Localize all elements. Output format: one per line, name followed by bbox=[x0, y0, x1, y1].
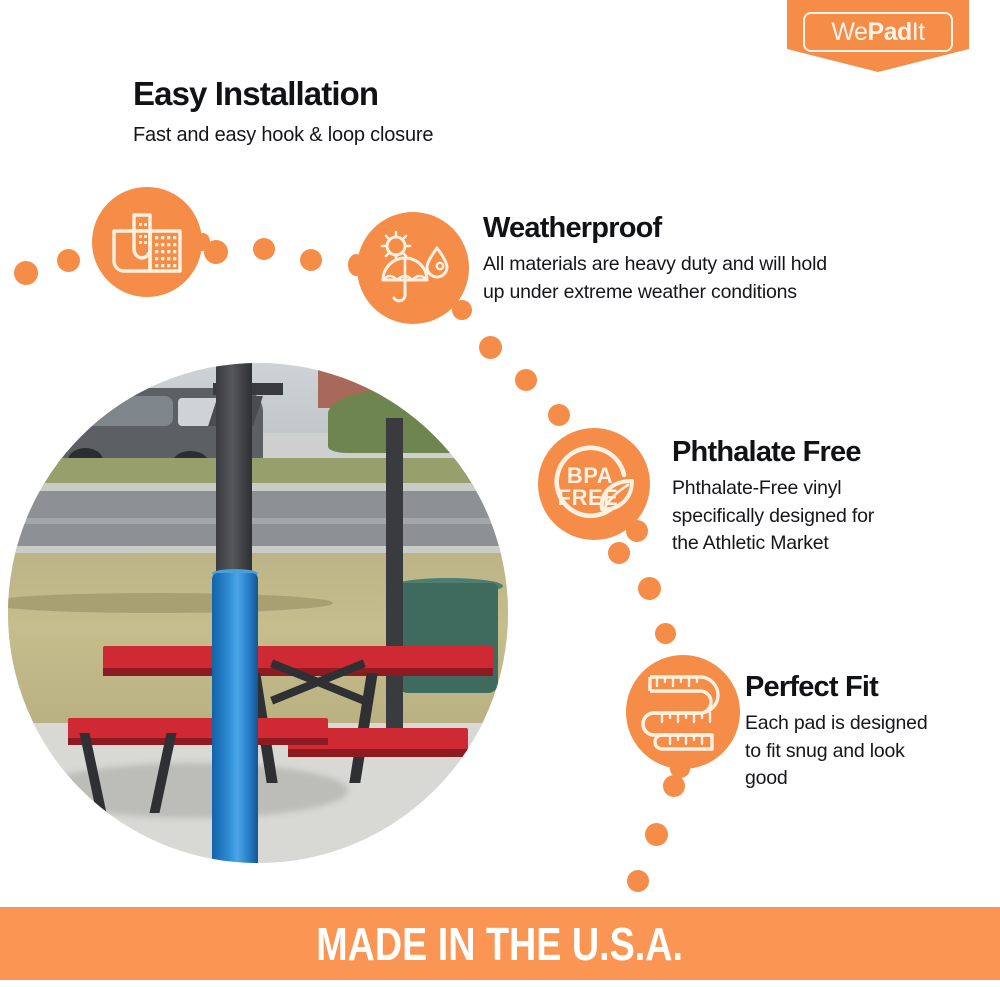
feature-desc-line: specifically designed for bbox=[672, 505, 874, 527]
trail-dot bbox=[300, 249, 322, 271]
photo-bench-near bbox=[68, 718, 328, 740]
feature-desc-phthalate-free: Phthalate-Free vinylspecifically designe… bbox=[672, 475, 957, 558]
feature-desc-line: up under extreme weather conditions bbox=[483, 281, 797, 303]
feature-desc-line: Phthalate-Free vinyl bbox=[672, 477, 841, 499]
phthalate-free-text-block: Phthalate Free Phthalate-Free vinylspeci… bbox=[672, 437, 957, 558]
logo-text-we: We bbox=[831, 18, 867, 46]
product-photo bbox=[8, 363, 508, 863]
feature-title-phthalate-free: Phthalate Free bbox=[672, 437, 957, 469]
trail-dot bbox=[548, 404, 570, 426]
trail-dot bbox=[608, 542, 630, 564]
trail-dot bbox=[479, 336, 502, 359]
trail-dot bbox=[627, 870, 649, 892]
measuring-tape-icon-glyph bbox=[640, 671, 726, 753]
weatherproof-text-block: Weatherproof All materials are heavy dut… bbox=[483, 213, 903, 306]
trail-dot bbox=[57, 249, 80, 272]
feature-title-perfect-fit: Perfect Fit bbox=[745, 672, 980, 704]
trail-dot bbox=[253, 238, 275, 260]
made-in-usa-banner: MADE IN THE U.S.A. bbox=[0, 907, 1000, 980]
feature-title-weatherproof: Weatherproof bbox=[483, 213, 903, 245]
photo-road-line bbox=[8, 518, 508, 524]
trail-dot bbox=[14, 261, 38, 285]
trail-dot bbox=[655, 623, 676, 644]
installation-pad-icon-glyph bbox=[110, 209, 184, 275]
sun-umbrella-raindrop-icon-glyph bbox=[374, 230, 452, 306]
page-subtitle: Fast and easy hook & loop closure bbox=[133, 122, 693, 148]
photo-blue-pole-pad bbox=[212, 573, 258, 863]
logo-text-it: It bbox=[912, 18, 925, 46]
easy-installation-text-block: Easy Installation Fast and easy hook & l… bbox=[133, 76, 693, 148]
trail-dot bbox=[663, 775, 685, 797]
logo-text-pad: Pad bbox=[867, 18, 911, 46]
trail-dot bbox=[645, 823, 668, 846]
made-in-usa-text: MADE IN THE U.S.A. bbox=[317, 921, 684, 967]
photo-suv-window bbox=[63, 396, 173, 426]
photo-hedge bbox=[328, 388, 508, 453]
photo-trash-barrel bbox=[398, 583, 498, 693]
feature-desc-line: All materials are heavy duty and will ho… bbox=[483, 253, 827, 275]
trail-dot bbox=[515, 369, 537, 391]
feature-desc-line: the Athletic Market bbox=[672, 532, 829, 554]
installation-pad-icon bbox=[92, 187, 202, 297]
feature-desc-line: to fit snug and look bbox=[745, 740, 905, 762]
brand-logo: WePadIt bbox=[787, 0, 969, 72]
photo-bench-far-edge bbox=[288, 749, 468, 757]
photo-bench-near-edge bbox=[68, 738, 328, 745]
logo-outline-box: WePadIt bbox=[803, 12, 953, 52]
photo-metal-pole bbox=[216, 363, 252, 583]
infographic-canvas: WePadIt Easy Installation Fast and easy … bbox=[0, 0, 1000, 987]
perfect-fit-text-block: Perfect Fit Each pad is designedto fit s… bbox=[745, 672, 980, 793]
page-title: Easy Installation bbox=[133, 76, 693, 113]
logo-wordmark: WePadIt bbox=[831, 20, 924, 45]
measuring-tape-icon bbox=[626, 655, 740, 769]
feature-desc-weatherproof: All materials are heavy duty and will ho… bbox=[483, 251, 903, 306]
trail-dot bbox=[638, 577, 661, 600]
feature-desc-perfect-fit: Each pad is designedto fit snug and look… bbox=[745, 710, 980, 793]
photo-right-post bbox=[386, 418, 403, 733]
bpa-free-leaf-icon: BPA FREE bbox=[538, 428, 650, 540]
feature-desc-line: good bbox=[745, 767, 788, 789]
feature-desc-line: Each pad is designed bbox=[745, 712, 927, 734]
bpa-free-leaf-icon-glyph: BPA FREE bbox=[546, 437, 642, 531]
photo-ground-shadow bbox=[38, 763, 348, 818]
free-label: FREE bbox=[558, 485, 619, 510]
sun-umbrella-raindrop-icon bbox=[357, 212, 469, 324]
